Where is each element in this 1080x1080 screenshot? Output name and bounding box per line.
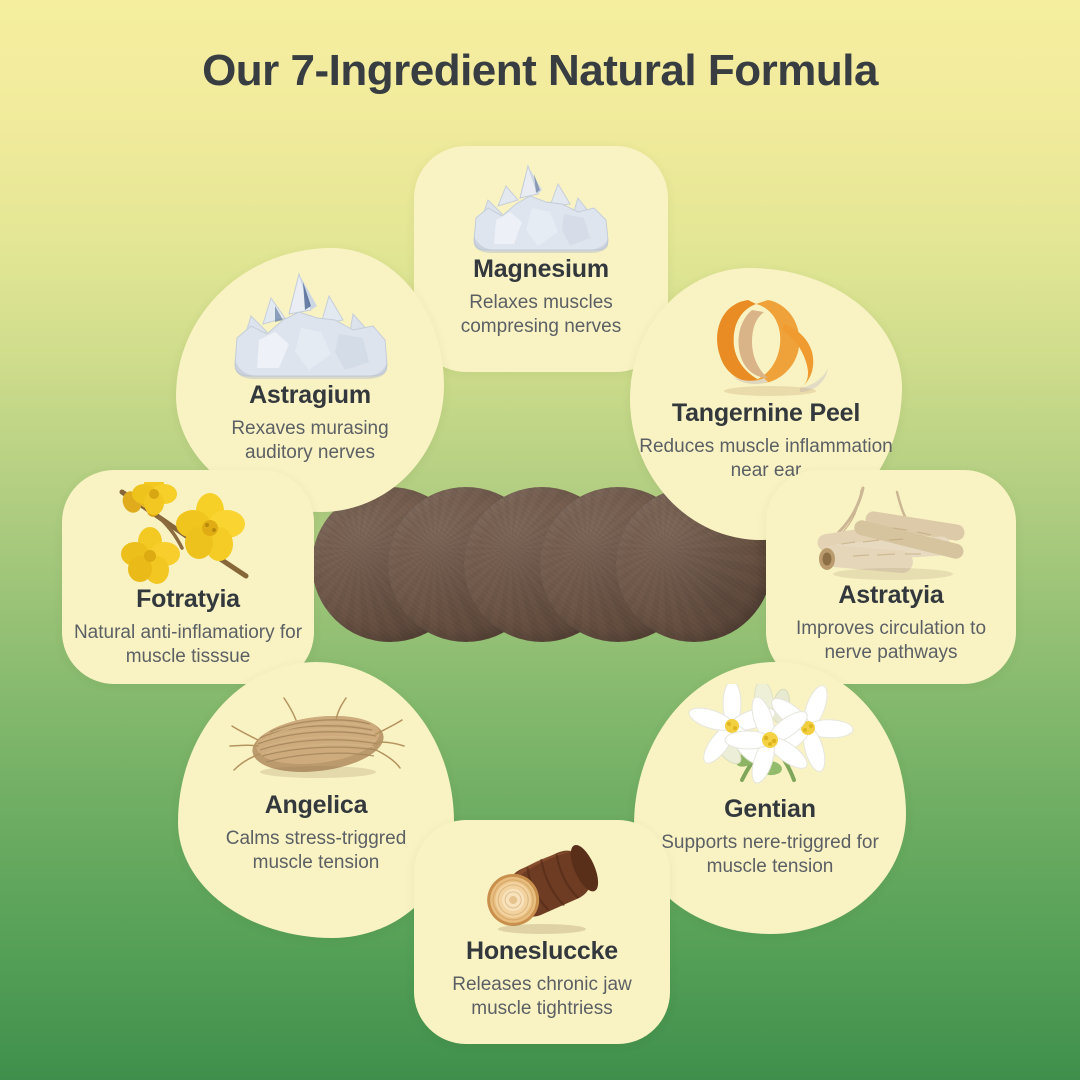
ingredient-name: Astragium [249, 382, 371, 410]
ingredient-description: Supports nere-triggred for muscle tensio… [661, 831, 879, 880]
ingredient-description: Releases chronic jaw muscle tightriess [452, 973, 632, 1022]
ingredient-name: Tangernine Peel [672, 400, 860, 428]
yellow-blossom-branch-icon [98, 482, 278, 586]
ingredient-card-fotratyia[interactable]: Fotratyia Natural anti-inflamatiory for … [62, 470, 314, 684]
ingredient-description: Rexaves murasing auditory nerves [231, 417, 388, 466]
ingredient-name: Astratyia [838, 582, 943, 610]
ingredient-description: Improves circulation to nerve pathways [796, 617, 986, 666]
orange-peel-icon [686, 290, 846, 400]
ingredient-card-angelica[interactable]: Angelica Calms stress-triggred muscle te… [178, 662, 454, 938]
ingredient-description: Calms stress-triggred muscle tension [226, 827, 407, 876]
ingredient-name: Fotratyia [136, 586, 240, 614]
dried-root-sticks-icon [801, 482, 981, 582]
page-title: Our 7-Ingredient Natural Formula [0, 46, 1080, 96]
ingredient-card-astratyia[interactable]: Astratyia Improves circulation to nerve … [766, 470, 1016, 684]
mineral-crystal-icon [225, 270, 395, 382]
white-flower-cluster-icon [682, 684, 858, 796]
ingredient-description: Natural anti-inflamatiory for muscle tis… [74, 621, 302, 670]
infographic-canvas: Our 7-Ingredient Natural Formula [0, 0, 1080, 1080]
ingredient-card-gentian[interactable]: Gentian Supports nere-triggred for muscl… [634, 662, 906, 934]
ingredient-description: Relaxes muscles compresing nerves [461, 291, 622, 340]
ingredient-card-honesluccke[interactable]: Honesluccke Releases chronic jaw muscle … [414, 820, 670, 1044]
cut-root-slice-icon [462, 834, 622, 938]
ingredient-name: Gentian [724, 796, 816, 824]
ingredient-card-magnesium[interactable]: Magnesium Relaxes muscles compresing ner… [414, 146, 668, 372]
fibrous-root-bundle-icon [226, 688, 406, 792]
ingredient-name: Honesluccke [466, 938, 618, 966]
ingredient-name: Angelica [265, 792, 368, 820]
mineral-crystal-icon [466, 160, 616, 256]
ingredient-name: Magnesium [473, 256, 609, 284]
